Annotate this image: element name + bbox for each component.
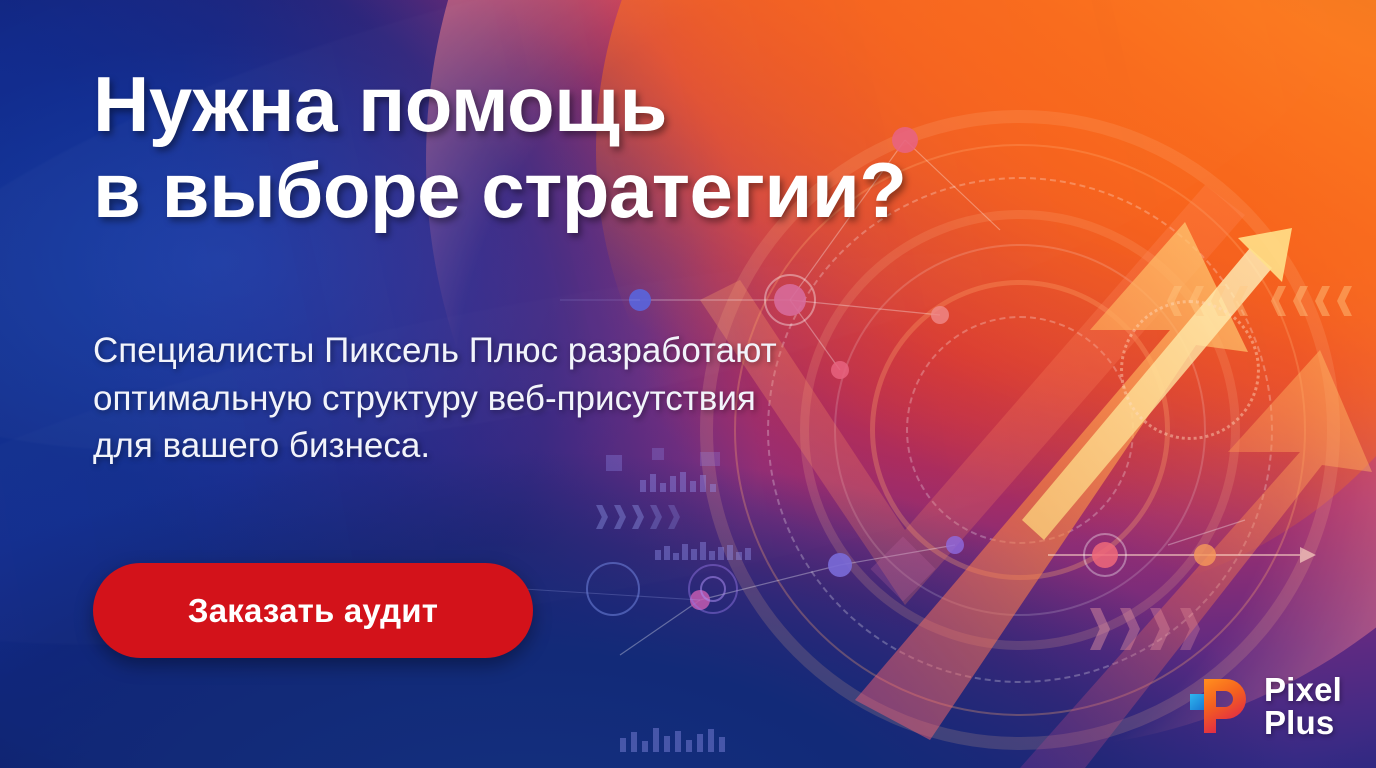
pixel-plus-logo[interactable]: Pixel Plus [1190, 673, 1342, 740]
headline: Нужна помощь в выборе стратегии? [93, 62, 1153, 234]
order-audit-button[interactable]: Заказать аудит [93, 563, 533, 658]
banner-content: Нужна помощь в выборе стратегии? Специал… [0, 0, 1376, 768]
subheadline: Специалисты Пиксель Плюс разработают опт… [93, 327, 993, 470]
logo-wordmark: Pixel Plus [1264, 673, 1342, 740]
pixel-plus-p-mark-icon [1190, 675, 1250, 737]
logo-line-1: Pixel [1264, 673, 1342, 707]
logo-line-2: Plus [1264, 706, 1342, 740]
promo-banner: Нужна помощь в выборе стратегии? Специал… [0, 0, 1376, 768]
